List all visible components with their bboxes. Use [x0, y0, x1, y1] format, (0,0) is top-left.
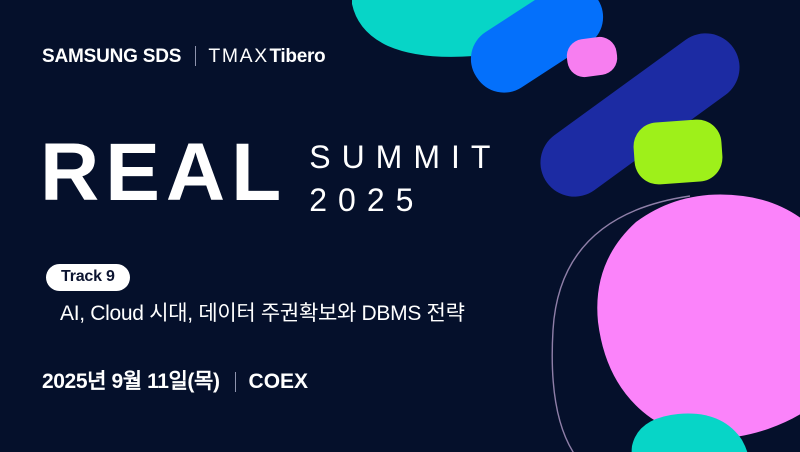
- tibero-wordmark: Tibero: [269, 47, 325, 66]
- tmax-wordmark: TMAX: [209, 47, 269, 66]
- date-venue-divider-icon: [235, 372, 236, 392]
- event-date: 2025년 9월 11일(목): [42, 371, 220, 392]
- event-poster: SAMSUNG SDS TMAX Tibero REAL SUMMIT 2025…: [0, 0, 800, 452]
- logo-divider-icon: [195, 46, 196, 66]
- tmax-tibero-logo: TMAX Tibero: [209, 47, 325, 66]
- track-badge: Track 9: [46, 264, 130, 291]
- headline-summit-block: SUMMIT 2025: [309, 139, 501, 219]
- headline-real: REAL: [40, 135, 287, 210]
- date-venue-bar: 2025년 9월 11일(목) COEX: [42, 371, 308, 392]
- headline: REAL SUMMIT 2025: [40, 133, 501, 219]
- event-venue: COEX: [249, 371, 309, 392]
- poster-content: SAMSUNG SDS TMAX Tibero REAL SUMMIT 2025…: [0, 0, 800, 452]
- samsung-sds-logo: SAMSUNG SDS: [42, 47, 181, 66]
- session-subtitle: AI, Cloud 시대, 데이터 주권확보와 DBMS 전략: [60, 301, 465, 327]
- headline-summit: SUMMIT: [309, 139, 501, 176]
- headline-year: 2025: [309, 182, 501, 219]
- logo-row: SAMSUNG SDS TMAX Tibero: [42, 44, 325, 68]
